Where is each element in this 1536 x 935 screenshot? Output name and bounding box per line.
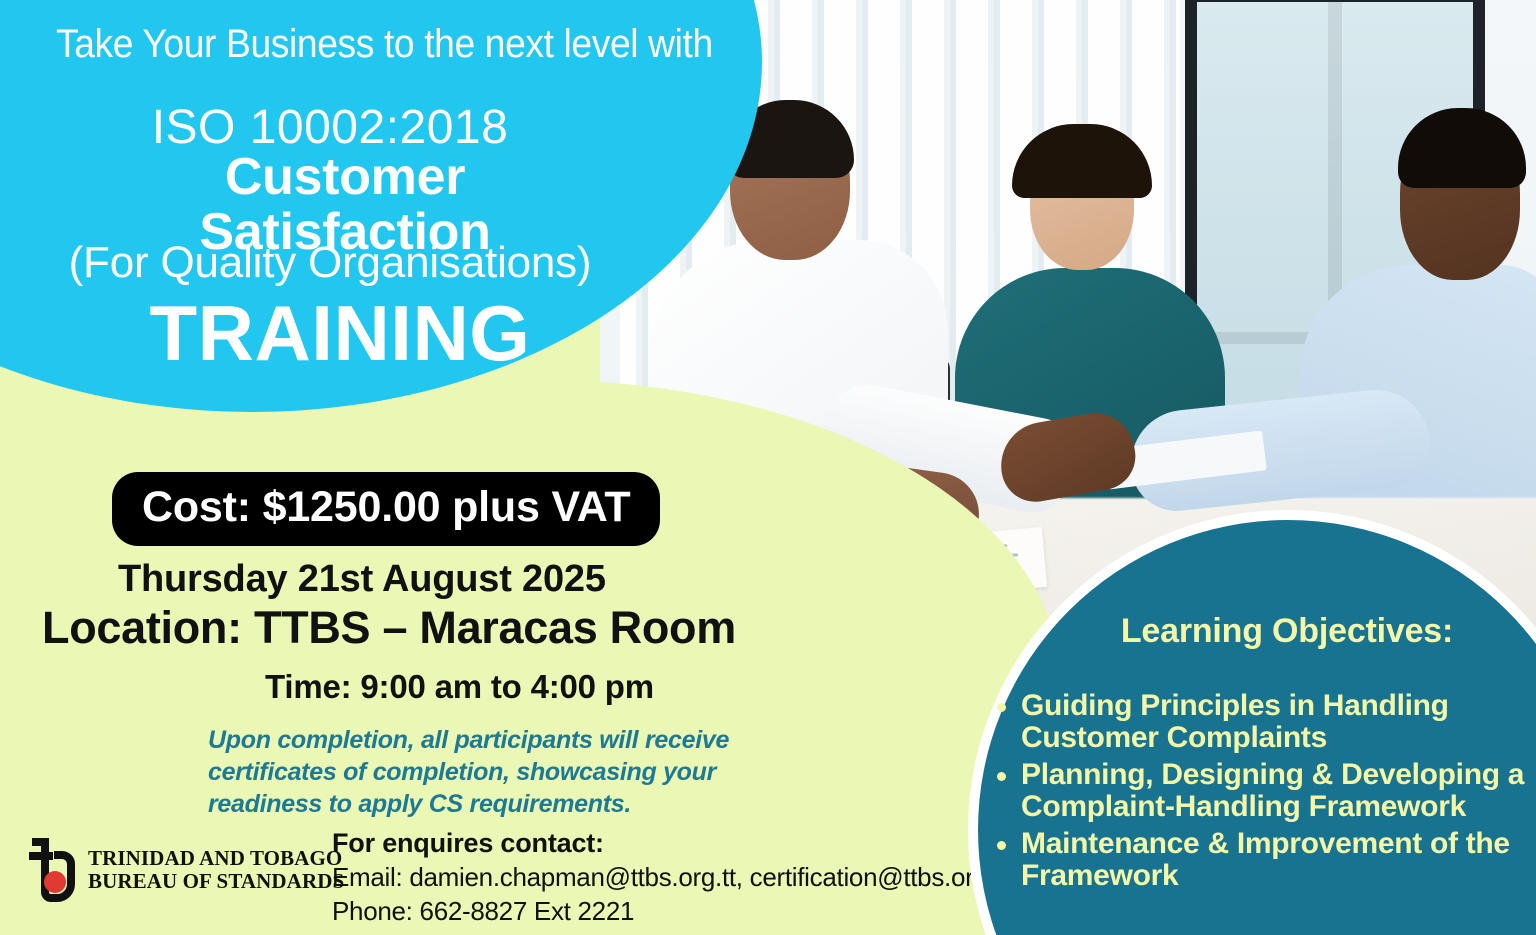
ttbs-logo: TRINIDAD AND TOBAGO BUREAU OF STANDARDS: [26, 838, 344, 902]
event-date: Thursday 21st August 2025: [118, 558, 606, 601]
event-location: Location: TTBS – Maracas Room: [42, 602, 736, 654]
ttbs-logo-line-2: BUREAU OF STANDARDS: [88, 870, 344, 893]
cost-badge: Cost: $1250.00 plus VAT: [112, 472, 660, 546]
contact-email[interactable]: Email: damien.chapman@ttbs.org.tt, certi…: [332, 862, 972, 893]
contact-heading: For enquires contact:: [332, 828, 972, 859]
certificate-note: Upon completion, all participants will r…: [208, 724, 788, 820]
ttbs-logo-line-1: TRINIDAD AND TOBAGO: [88, 847, 344, 870]
contact-block: For enquires contact: Email: damien.chap…: [332, 828, 972, 927]
iso-standard-label: ISO 10002:2018: [0, 100, 660, 155]
learning-objectives-title: Learning Objectives:: [1052, 612, 1522, 651]
training-wordmark: TRAINING: [0, 288, 680, 379]
list-item: Maintenance & Improvement of the Framewo…: [985, 828, 1530, 893]
ttbs-monogram-icon: [26, 838, 80, 902]
ttbs-logo-text: TRINIDAD AND TOBAGO BUREAU OF STANDARDS: [88, 847, 344, 892]
course-subtitle: (For Quality Organisations): [0, 238, 660, 288]
contact-phone[interactable]: Phone: 662-8827 Ext 2221: [332, 896, 972, 927]
cost-text: Cost: $1250.00 plus VAT: [142, 483, 630, 531]
hero-tagline: Take Your Business to the next level wit…: [56, 22, 614, 67]
event-time: Time: 9:00 am to 4:00 pm: [265, 668, 654, 706]
list-item: Guiding Principles in Handling Customer …: [985, 690, 1530, 755]
training-flyer: Take Your Business to the next level wit…: [0, 0, 1536, 935]
list-item: Planning, Designing & Developing a Compl…: [985, 759, 1530, 824]
hero-text-block: Take Your Business to the next level wit…: [0, 0, 700, 392]
learning-objectives-list: Guiding Principles in Handling Customer …: [985, 690, 1530, 896]
course-title-line-1: Customer: [0, 150, 690, 205]
